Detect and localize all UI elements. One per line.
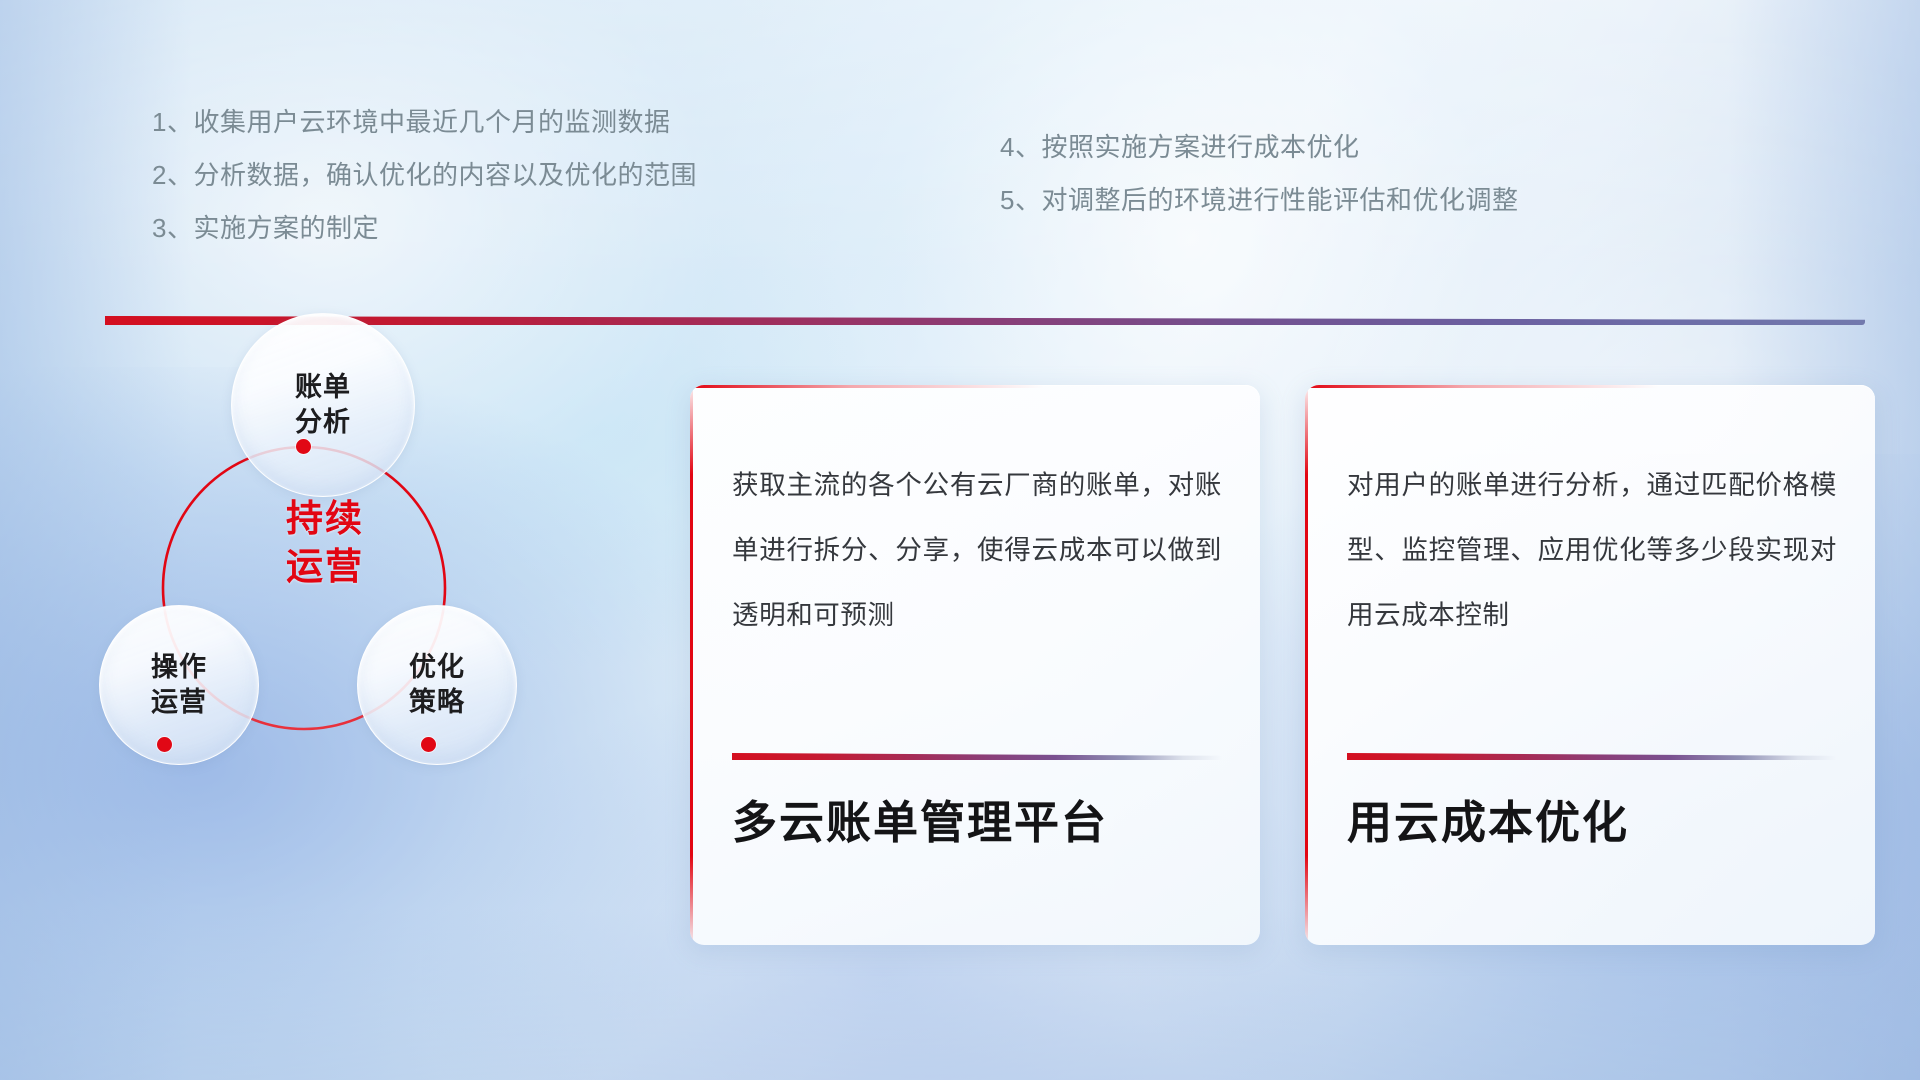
steps-list-left: 1、收集用户云环境中最近几个月的监测数据 2、分析数据，确认优化的内容以及优化的… [152, 96, 697, 255]
card-divider-bar [1347, 753, 1837, 760]
card-title: 多云账单管理平台 [732, 795, 1230, 851]
diagram-node-label: 优化策略 [409, 650, 465, 720]
card-divider [732, 753, 1222, 760]
diagram-node-label: 账单分析 [295, 370, 351, 440]
feature-card-multicloud-billing[interactable]: 获取主流的各个公有云厂商的账单，对账单进行拆分、分享，使得云成本可以做到透明和可… [690, 385, 1260, 945]
step-item-3: 3、实施方案的制定 [152, 202, 697, 255]
diagram-junction-dot-top [296, 439, 311, 454]
card-top-accent-bar [690, 385, 1260, 388]
diagram-node-operations[interactable]: 操作运营 [99, 605, 259, 765]
step-item-1: 1、收集用户云环境中最近几个月的监测数据 [152, 96, 697, 149]
card-divider [1347, 753, 1837, 760]
diagram-center-label: 持续运营 [235, 495, 415, 591]
card-left-accent-bar [1305, 385, 1308, 945]
card-top-accent-bar [1305, 385, 1875, 388]
card-description: 获取主流的各个公有云厂商的账单，对账单进行拆分、分享，使得云成本可以做到透明和可… [732, 453, 1222, 648]
step-item-4: 4、按照实施方案进行成本优化 [1000, 121, 1518, 174]
step-item-5: 5、对调整后的环境进行性能评估和优化调整 [1000, 174, 1518, 227]
card-description: 对用户的账单进行分析，通过匹配价格模型、监控管理、应用优化等多少段实现对用云成本… [1347, 453, 1837, 648]
steps-list-right: 4、按照实施方案进行成本优化 5、对调整后的环境进行性能评估和优化调整 [1000, 121, 1518, 227]
card-title: 用云成本优化 [1347, 795, 1845, 851]
card-left-accent-bar [690, 385, 693, 945]
diagram-node-label: 操作运营 [151, 650, 207, 720]
diagram-junction-dot-bottom-left [157, 737, 172, 752]
step-item-2: 2、分析数据，确认优化的内容以及优化的范围 [152, 149, 697, 202]
diagram-node-optimization-strategy[interactable]: 优化策略 [357, 605, 517, 765]
diagram-node-bill-analysis[interactable]: 账单分析 [231, 313, 415, 497]
card-divider-bar [732, 753, 1222, 760]
circle-diagram: 账单分析 操作运营 优化策略 持续运营 [85, 295, 555, 775]
feature-card-cloud-cost-optimization[interactable]: 对用户的账单进行分析，通过匹配价格模型、监控管理、应用优化等多少段实现对用云成本… [1305, 385, 1875, 945]
diagram-junction-dot-bottom-right [421, 737, 436, 752]
